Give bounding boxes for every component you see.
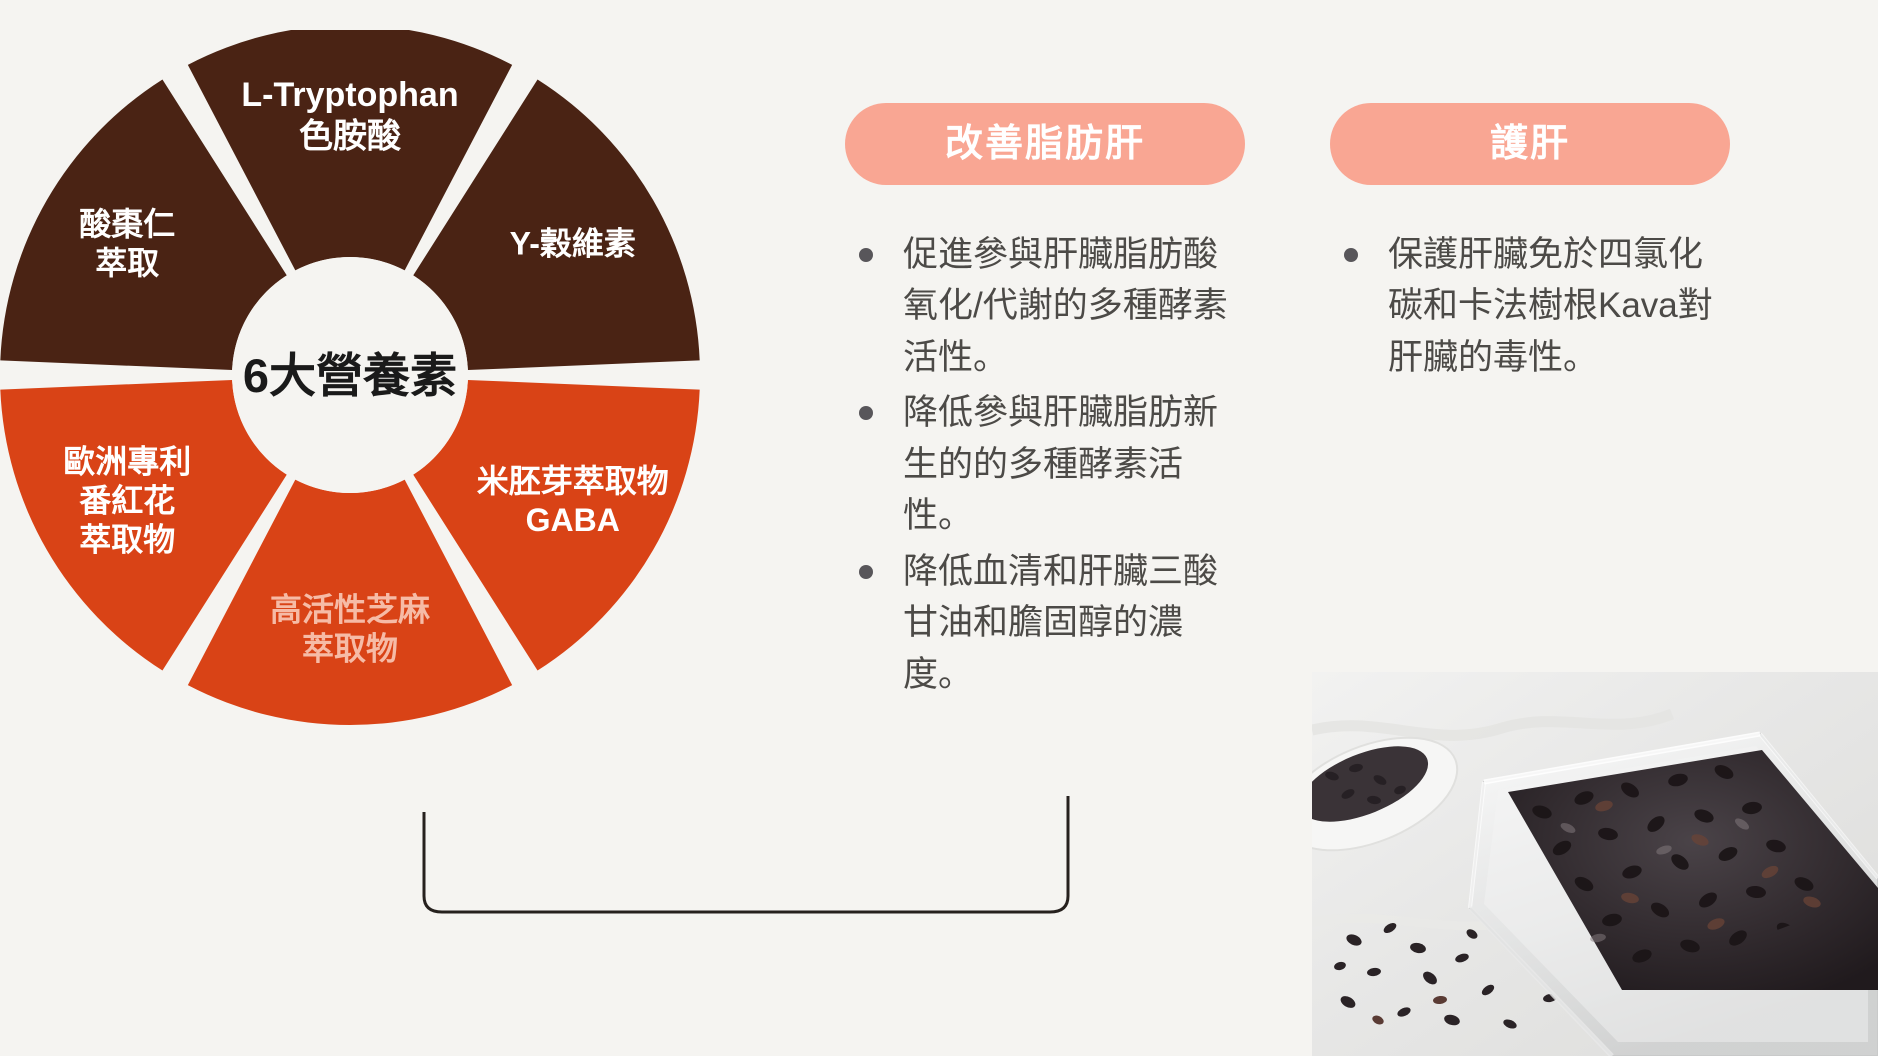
photo-svg xyxy=(1312,672,1878,1056)
benefit-item-text: 降低血清和肝臟三酸甘油和膽固醇的濃度。 xyxy=(903,552,1218,694)
bracket-path xyxy=(424,796,1068,912)
benefit-item: 降低血清和肝臟三酸甘油和膽固醇的濃度。 xyxy=(845,546,1245,700)
benefit-column-liver-protection: 護肝 保護肝臟免於四氯化碳和卡法樹根Kava對肝臟的毒性。 xyxy=(1330,103,1730,387)
benefit-item-text: 保護肝臟免於四氯化碳和卡法樹根Kava對肝臟的毒性。 xyxy=(1388,235,1713,377)
benefit-item-text: 降低參與肝臟脂肪新生的的多種酵素活性。 xyxy=(903,393,1218,535)
bullet-dot-icon xyxy=(1344,248,1358,262)
bullet-dot-icon xyxy=(859,248,873,262)
benefit-column-improve-fatty-liver: 改善脂肪肝 促進參與肝臟脂肪酸氧化/代謝的多種酵素活性。降低參與肝臟脂肪新生的的… xyxy=(845,103,1245,704)
nutrient-donut-chart: L-Tryptophan色胺酸Y-穀維素米胚芽萃取物GABA高活性芝麻萃取物歐洲… xyxy=(0,30,700,730)
column-heading-pill-2: 護肝 xyxy=(1330,103,1730,185)
column-heading-text-2: 護肝 xyxy=(1490,125,1570,163)
benefit-list-1: 促進參與肝臟脂肪酸氧化/代謝的多種酵素活性。降低參與肝臟脂肪新生的的多種酵素活性… xyxy=(845,229,1245,700)
benefit-item: 保護肝臟免於四氯化碳和卡法樹根Kava對肝臟的毒性。 xyxy=(1330,229,1730,383)
bullet-dot-icon xyxy=(859,406,873,420)
benefit-list-2: 保護肝臟免於四氯化碳和卡法樹根Kava對肝臟的毒性。 xyxy=(1330,229,1730,383)
benefit-item-text: 促進參與肝臟脂肪酸氧化/代謝的多種酵素活性。 xyxy=(903,235,1228,377)
black-sesame-seeds-photo xyxy=(1312,672,1878,1056)
column-heading-pill-1: 改善脂肪肝 xyxy=(845,103,1245,185)
column-heading-text-1: 改善脂肪肝 xyxy=(945,125,1145,163)
benefit-item: 降低參與肝臟脂肪新生的的多種酵素活性。 xyxy=(845,387,1245,541)
infographic-canvas: L-Tryptophan色胺酸Y-穀維素米胚芽萃取物GABA高活性芝麻萃取物歐洲… xyxy=(0,0,1878,1056)
connector-bracket xyxy=(350,700,1110,940)
bullet-dot-icon xyxy=(859,565,873,579)
donut-svg: L-Tryptophan色胺酸Y-穀維素米胚芽萃取物GABA高活性芝麻萃取物歐洲… xyxy=(0,30,700,730)
benefit-item: 促進參與肝臟脂肪酸氧化/代謝的多種酵素活性。 xyxy=(845,229,1245,383)
donut-center-label: 6大營養素 xyxy=(243,349,457,402)
